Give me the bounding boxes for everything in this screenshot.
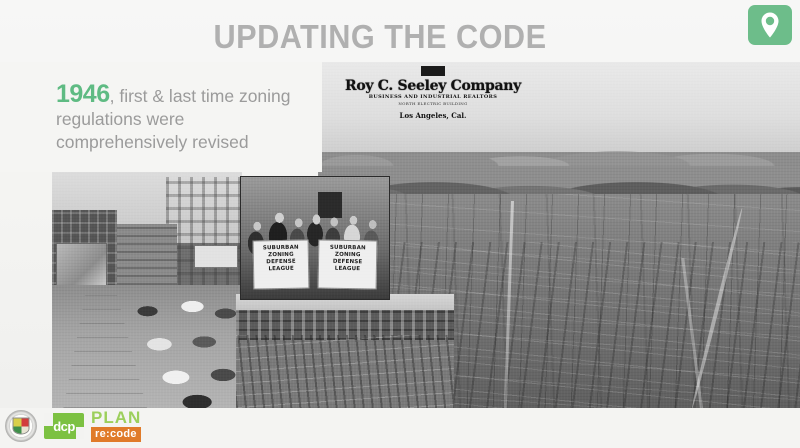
caption-city: Los Angeles, Cal. (338, 110, 528, 121)
seal-quadrant-3 (14, 426, 22, 434)
footer-logos: dcp PLAN re:code (0, 408, 800, 444)
presentation-slide: Roy C. Seeley Company BUSINESS AND INDUS… (0, 0, 800, 448)
seal-quadrant-4 (21, 426, 29, 434)
location-badge[interactable] (748, 5, 792, 45)
city-of-la-seal-icon (5, 410, 37, 442)
location-pin-icon (759, 11, 781, 39)
page-title: UPDATING THE CODE (27, 18, 734, 56)
plan-wordmark: PLAN (91, 410, 141, 426)
plan-recode-logo: PLAN re:code (91, 410, 141, 442)
caption-building: NORTH ELECTRIC BUILDING (338, 101, 528, 107)
caption-subtitle: BUSINESS AND INDUSTRIAL REALTORS (338, 94, 528, 101)
lead-statement: 1946, first & last time zoning regulatio… (56, 82, 318, 154)
caption-emblem-icon (421, 66, 445, 76)
recode-badge: re:code (91, 427, 141, 442)
seal-shield (13, 418, 30, 435)
photo-grain-overlay (52, 172, 242, 408)
caption-company-name: Roy C. Seeley Company (338, 78, 528, 94)
photo-grain-overlay (241, 177, 389, 299)
dcp-logo: dcp (44, 413, 84, 439)
dcp-logo-text: dcp (53, 420, 75, 433)
dcp-notch-top (44, 413, 53, 426)
zoning-defense-league-photo: SUBURBAN ZONING DEFENSE LEAGUE SUBURBAN … (240, 176, 390, 300)
dcp-notch-bottom (76, 427, 84, 439)
aerial-photo-caption: Roy C. Seeley Company BUSINESS AND INDUS… (338, 66, 528, 121)
seal-quadrant-1 (14, 419, 22, 427)
housing-tract-photo (236, 294, 454, 408)
street-scene-photo (52, 172, 242, 408)
photo-grain-overlay (236, 294, 454, 408)
seal-quadrant-2 (21, 419, 29, 427)
lead-year: 1946 (56, 80, 110, 108)
